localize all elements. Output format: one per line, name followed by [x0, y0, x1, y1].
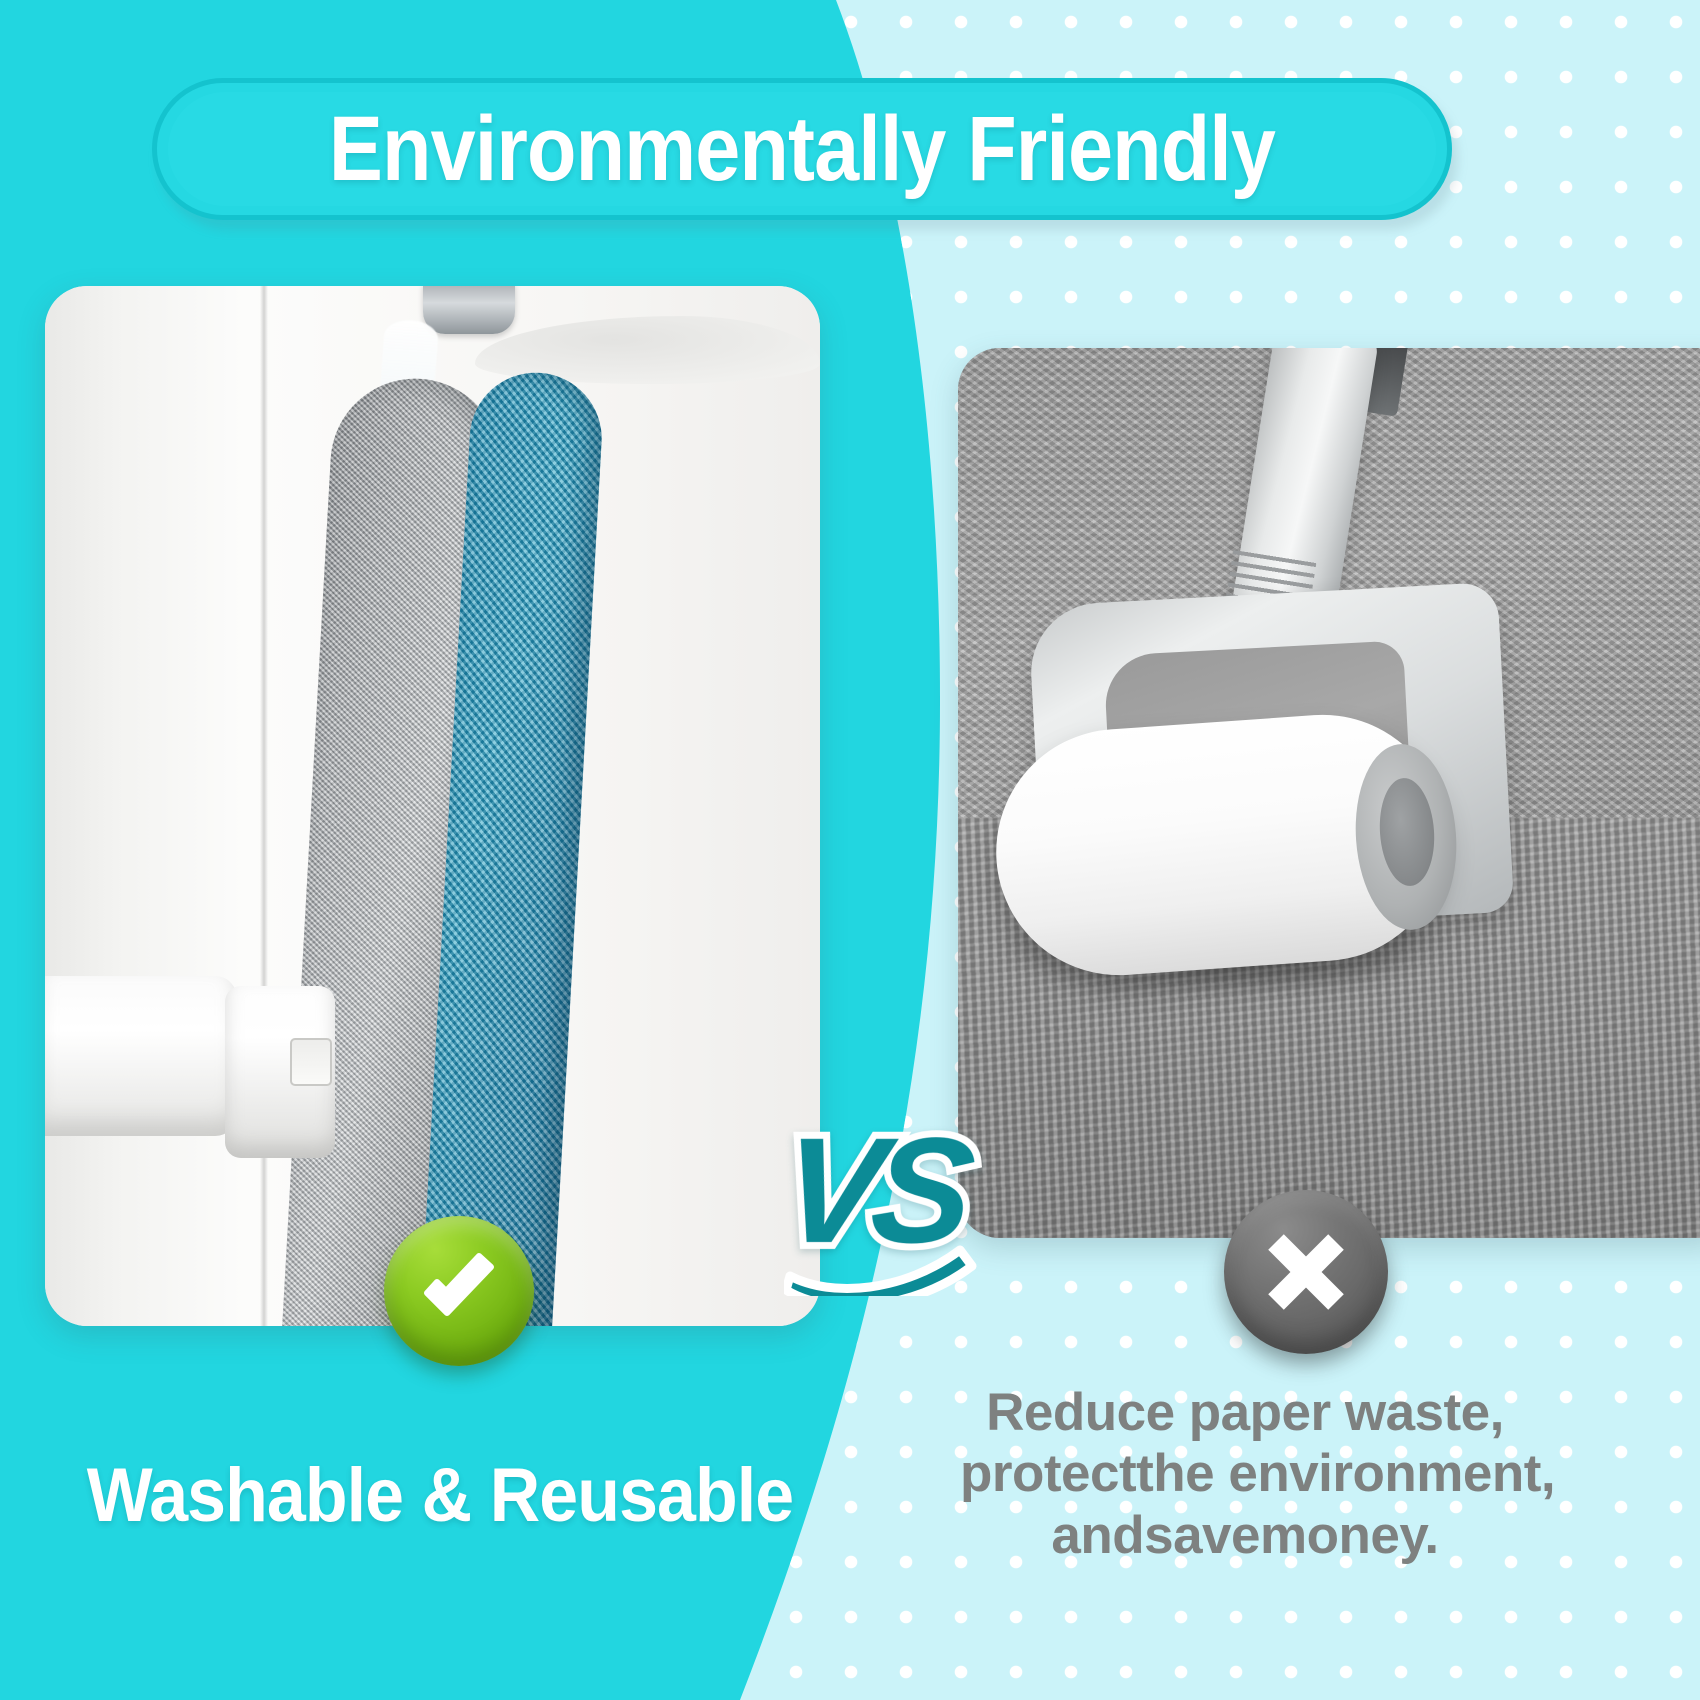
wall-seam	[260, 286, 268, 1326]
disposable-lint-roller-photo	[958, 348, 1700, 1238]
page-title: Environmentally Friendly	[230, 78, 1374, 220]
washable-reusable-brush-photo	[45, 286, 820, 1326]
versus-badge: VS	[778, 1086, 968, 1294]
check-circle-icon	[384, 1216, 534, 1366]
left-caption: Washable & Reusable	[72, 1452, 808, 1539]
right-caption: Reduce paper waste, protectthe environme…	[960, 1382, 1530, 1566]
brush-release-button	[290, 1038, 332, 1086]
brush-handle-body	[45, 976, 237, 1136]
x-circle-icon	[1224, 1190, 1388, 1354]
right-caption-line-1: Reduce paper waste,	[960, 1382, 1530, 1443]
faucet-icon	[423, 286, 515, 334]
right-caption-line-3: andsavemoney.	[960, 1505, 1530, 1566]
versus-label: VS	[767, 1086, 979, 1294]
infographic-root: Environmentally Friendly	[0, 0, 1700, 1700]
header-banner: Environmentally Friendly	[152, 78, 1452, 220]
right-caption-line-2: protectthe environment,	[960, 1443, 1530, 1504]
